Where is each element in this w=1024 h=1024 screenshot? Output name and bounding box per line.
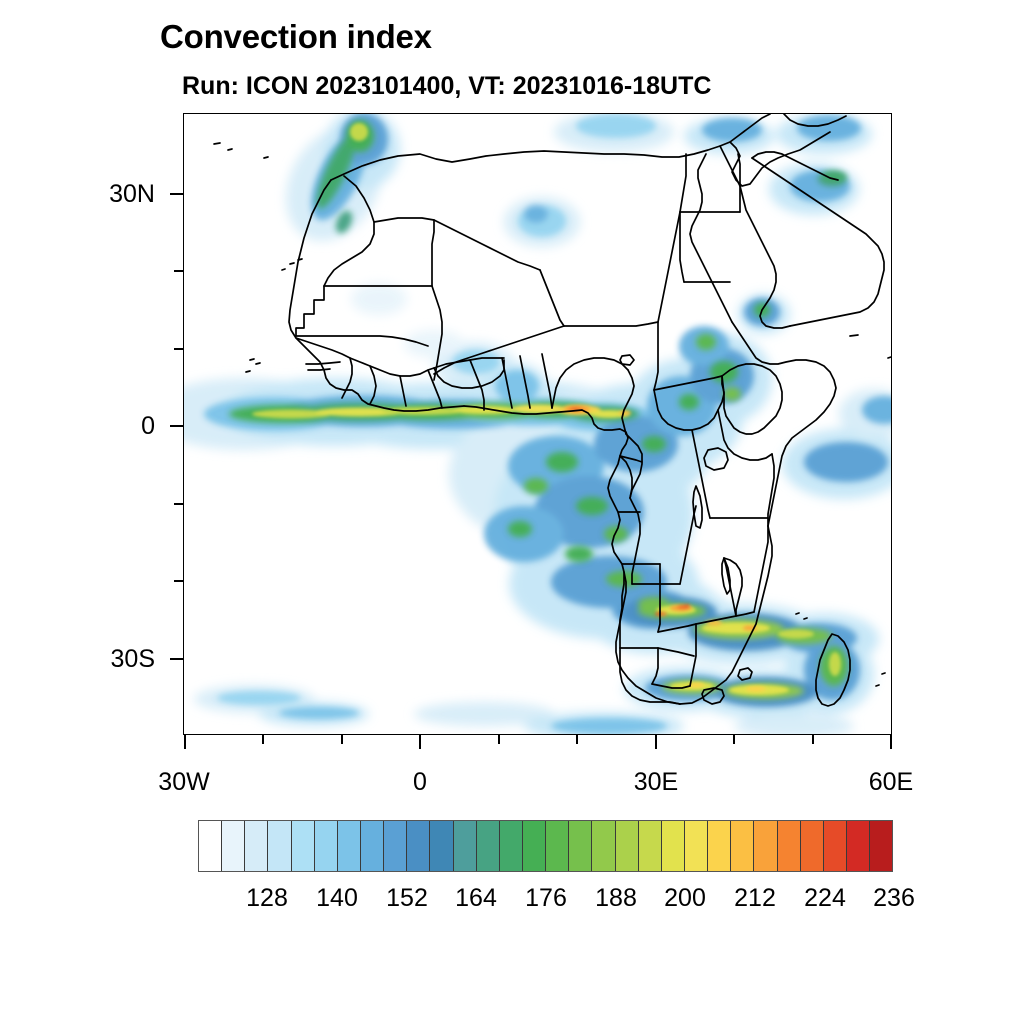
ytick-20n [174, 270, 183, 272]
colorbar-cell [685, 821, 708, 871]
xtick-60e [890, 735, 892, 749]
colorbar-cell [847, 821, 870, 871]
colorbar-cell [546, 821, 569, 871]
colorbar-cell [801, 821, 824, 871]
ytick-10n [174, 348, 183, 350]
ytick-10s [174, 503, 183, 505]
ytick-label-30s: 30S [45, 645, 155, 674]
colorbar-cell [454, 821, 477, 871]
colorbar-cell [731, 821, 754, 871]
colorbar-cell [708, 821, 731, 871]
xtick-20w [262, 735, 264, 744]
ytick-30s [170, 658, 183, 660]
colorbar-cell [778, 821, 801, 871]
colorbar-cell [870, 821, 892, 871]
run-valid-time-subtitle: Run: ICON 2023101400, VT: 20231016-18UTC [182, 72, 711, 101]
colorbar-cell [616, 821, 639, 871]
colorbar-cells[interactable] [198, 820, 893, 872]
xtick-label-30w: 30W [124, 768, 244, 797]
colorbar-cell [245, 821, 268, 871]
xtick-30w [184, 735, 186, 749]
colorbar-cell [430, 821, 453, 871]
colorbar-cell [477, 821, 500, 871]
colorbar-cell [268, 821, 291, 871]
colorbar[interactable] [198, 820, 893, 872]
colorbar-cell [361, 821, 384, 871]
colorbar-cell [824, 821, 847, 871]
colorbar-cell [500, 821, 523, 871]
colorbar-cell [292, 821, 315, 871]
colorbar-cell [338, 821, 361, 871]
colorbar-cell [569, 821, 592, 871]
xtick-10w [341, 735, 343, 744]
xtick-0 [419, 735, 421, 749]
convection-index-figure: Convection index Run: ICON 2023101400, V… [0, 0, 1024, 1024]
ytick-20s [174, 580, 183, 582]
colorbar-cell [384, 821, 407, 871]
colorbar-cell [662, 821, 685, 871]
map-plot-area[interactable] [183, 113, 892, 735]
ytick-label-0: 0 [45, 412, 155, 441]
colorbar-cell [592, 821, 615, 871]
map-canvas [184, 114, 892, 735]
xtick-20e [576, 735, 578, 744]
colorbar-cell [754, 821, 777, 871]
colorbar-cell [315, 821, 338, 871]
xtick-label-30e: 30E [596, 768, 716, 797]
xtick-10e [498, 735, 500, 744]
colorbar-label-236: 236 [849, 884, 939, 913]
ytick-label-30n: 30N [45, 180, 155, 209]
colorbar-cell [199, 821, 222, 871]
colorbar-cell [222, 821, 245, 871]
colorbar-cell [523, 821, 546, 871]
colorbar-cell [639, 821, 662, 871]
xtick-30e [655, 735, 657, 749]
colorbar-cell [407, 821, 430, 871]
xtick-40e [733, 735, 735, 744]
xtick-label-0: 0 [360, 768, 480, 797]
xtick-label-60e: 60E [831, 768, 951, 797]
ytick-0 [170, 425, 183, 427]
page-title: Convection index [160, 18, 432, 56]
ytick-30n [170, 193, 183, 195]
xtick-50e [812, 735, 814, 744]
